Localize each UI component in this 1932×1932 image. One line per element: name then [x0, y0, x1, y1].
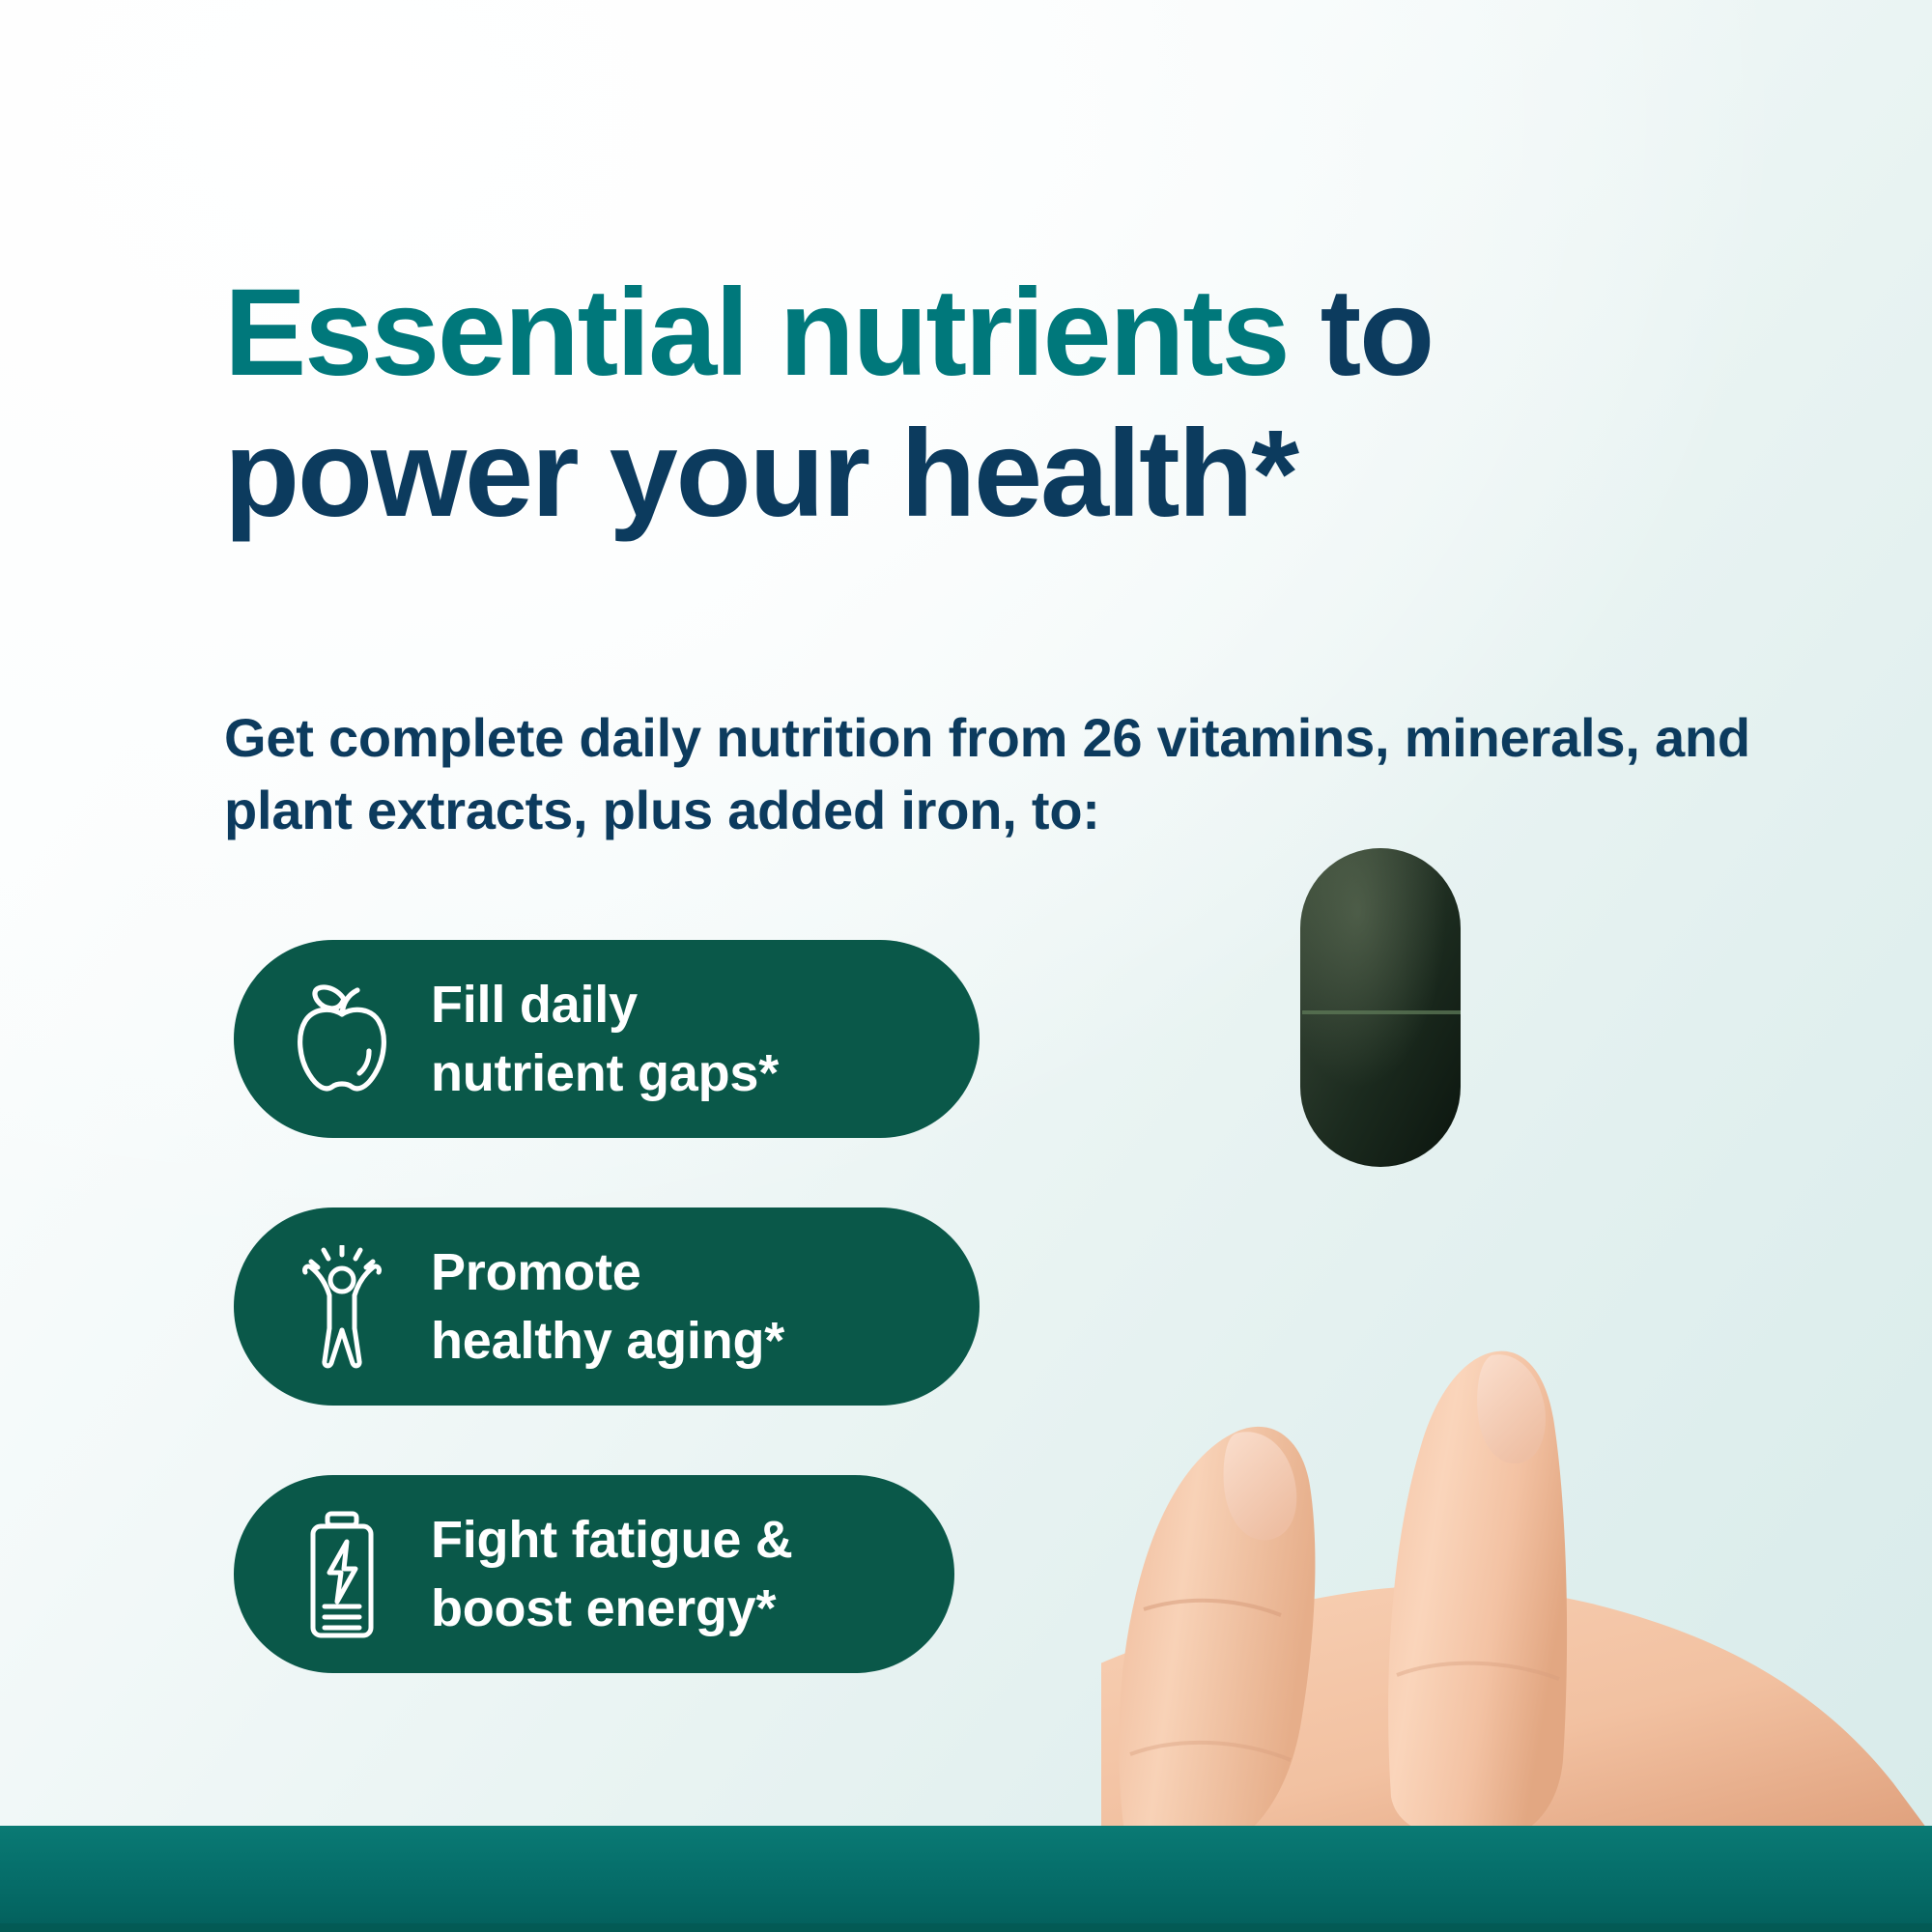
benefit-item-promote-healthy-aging[interactable]: Promote healthy aging*	[234, 1207, 980, 1406]
footer-bar-edge	[0, 1923, 1932, 1932]
page-title-accent: Essential nutrients	[224, 264, 1288, 402]
page-title: Essential nutrients to power your health…	[224, 263, 1808, 545]
person-arms-raised-icon	[276, 1235, 408, 1379]
benefit-item-fill-daily-nutrient-gaps[interactable]: Fill daily nutrient gaps*	[234, 940, 980, 1138]
hand-holding-tablet-photo	[1101, 831, 1932, 1855]
apple-icon	[276, 967, 408, 1112]
tablet	[1300, 848, 1461, 1167]
promo-banner: Essential nutrients to power your health…	[0, 0, 1932, 1932]
subhead-text: Get complete daily nutrition from 26 vit…	[224, 701, 1789, 846]
benefit-item-label: Fight fatigue & boost energy*	[431, 1506, 793, 1641]
benefit-item-fight-fatigue-boost-energy[interactable]: Fight fatigue & boost energy*	[234, 1475, 954, 1673]
footer-bar	[0, 1826, 1932, 1932]
benefit-item-label: Fill daily nutrient gaps*	[431, 971, 779, 1106]
benefit-item-label: Promote healthy aging*	[431, 1238, 784, 1374]
battery-bolt-icon	[276, 1502, 408, 1647]
benefit-list: Fill daily nutrient gaps*	[234, 940, 1026, 1743]
